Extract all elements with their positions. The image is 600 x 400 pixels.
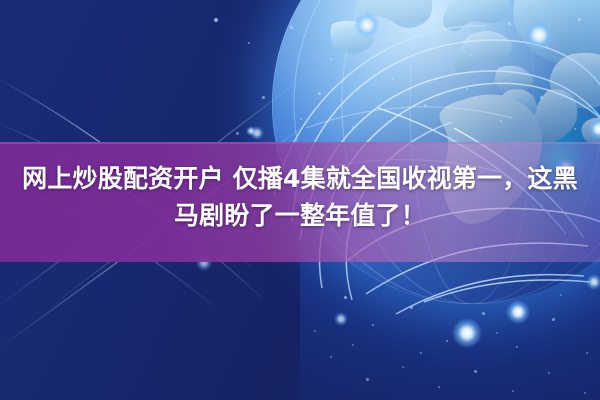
- page-title: 网上炒股配资开户 仅播4集就全国收视第一，这黑 马剧盼了一整年值了！: [0, 160, 600, 234]
- promo-banner-image: 网上炒股配资开户 仅播4集就全国收视第一，这黑 马剧盼了一整年值了！: [0, 0, 600, 400]
- headline-line-1: 网上炒股配资开户 仅播4集就全国收视第一，这黑: [0, 160, 600, 197]
- banner-top-edge: [0, 142, 600, 144]
- headline-line-2: 马剧盼了一整年值了！: [0, 197, 600, 234]
